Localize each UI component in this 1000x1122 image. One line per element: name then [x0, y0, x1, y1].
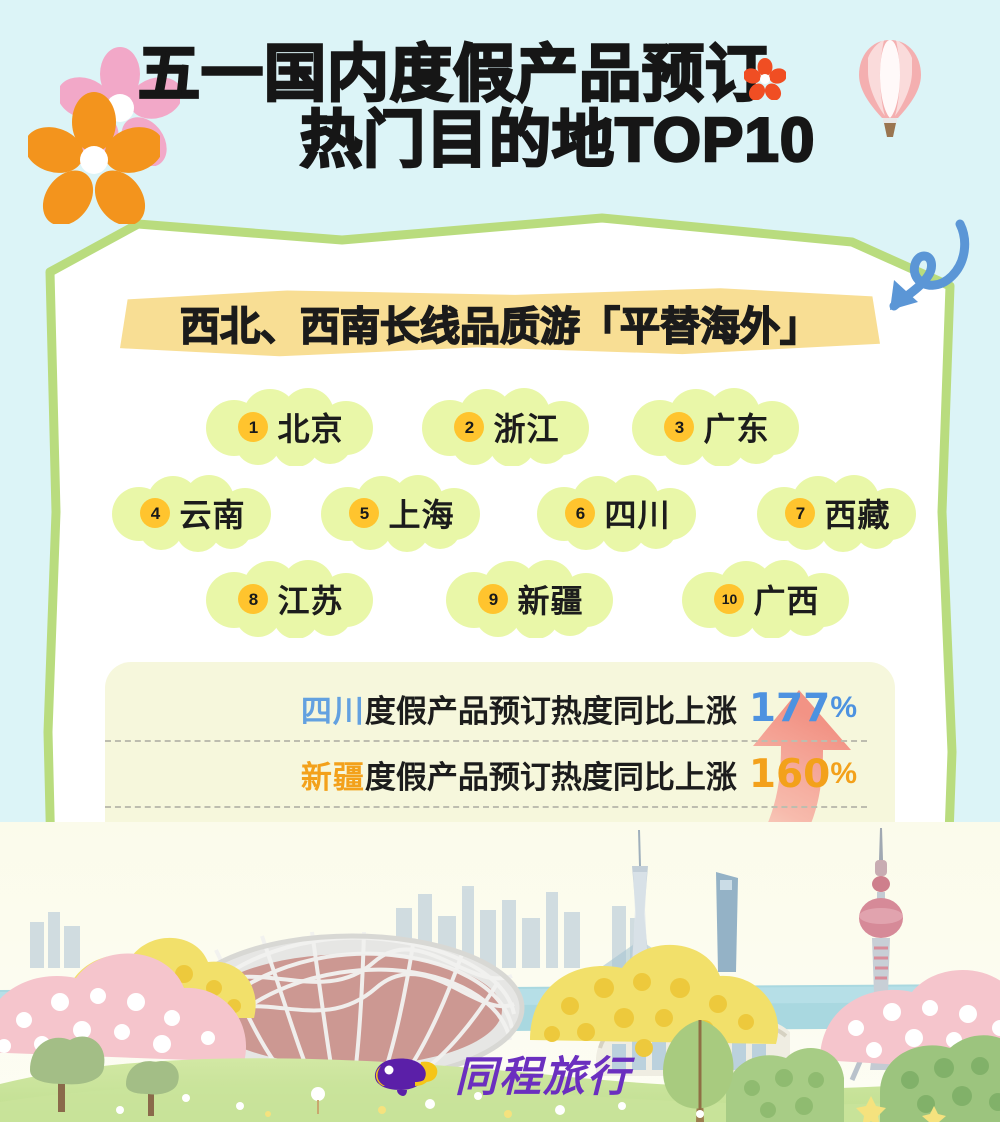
stat-percent: %	[830, 757, 857, 791]
rank-badge: 9	[478, 584, 508, 614]
infographic-root: 五一国内度假产品预订 热门目的地TOP10 西北、西南长线品质游「平替海外」	[0, 0, 1000, 1122]
stat-description: 度假产品预订热度同比上涨	[365, 752, 737, 797]
rank-item-3[interactable]: 3 广东	[622, 388, 812, 466]
rank-item-10[interactable]: 10 广西	[672, 560, 862, 638]
stat-description: 度假产品预订热度同比上涨	[365, 686, 737, 731]
rank-name: 广西	[753, 576, 819, 622]
title-line-2: 热门目的地TOP10	[0, 108, 1000, 174]
rank-item-9[interactable]: 9 新疆	[436, 560, 626, 638]
footer-brand: 同程旅行	[0, 1043, 1000, 1104]
stat-row: 四川 度假产品预订热度同比上涨 177 %	[105, 676, 867, 742]
rank-badge: 10	[714, 584, 744, 614]
shanghai-world-financial-center	[716, 872, 738, 972]
rank-item-5[interactable]: 5 上海	[312, 474, 492, 552]
rank-item-7[interactable]: 7 西藏	[748, 474, 928, 552]
rank-item-8[interactable]: 8 江苏	[196, 560, 386, 638]
tongcheng-bird-logo-icon	[369, 1052, 441, 1096]
rank-name: 北京	[277, 404, 343, 450]
page-title: 五一国内度假产品预订 热门目的地TOP10	[0, 42, 1000, 175]
stat-percent: %	[830, 691, 857, 725]
rank-badge: 8	[238, 584, 268, 614]
rank-name: 江苏	[277, 576, 343, 622]
stat-value: 177	[749, 686, 830, 731]
rank-name: 西藏	[824, 490, 890, 536]
rank-item-1[interactable]: 1 北京	[196, 388, 386, 466]
rank-badge: 5	[349, 498, 379, 528]
stat-row: 新疆 度假产品预订热度同比上涨 160 %	[105, 742, 867, 808]
stat-region: 四川	[301, 686, 365, 731]
title-line-1: 五一国内度假产品预订	[0, 42, 1000, 108]
stat-region: 新疆	[301, 752, 365, 797]
rank-badge: 4	[140, 498, 170, 528]
rank-badge: 6	[565, 498, 595, 528]
rank-name: 四川	[604, 490, 670, 536]
rank-name: 新疆	[517, 576, 583, 622]
stat-value: 160	[749, 752, 830, 797]
rank-item-2[interactable]: 2 浙江	[412, 388, 602, 466]
rank-name: 广东	[703, 404, 769, 450]
small-red-flower-icon	[744, 58, 786, 100]
curly-arrow-icon	[862, 218, 982, 323]
rank-badge: 2	[454, 412, 484, 442]
rank-badge: 1	[238, 412, 268, 442]
rank-item-6[interactable]: 6 四川	[528, 474, 708, 552]
rank-name: 上海	[388, 490, 454, 536]
subtitle-banner: 西北、西南长线品质游「平替海外」	[120, 286, 880, 360]
rank-badge: 7	[785, 498, 815, 528]
rank-item-4[interactable]: 4 云南	[103, 474, 283, 552]
rank-badge: 3	[664, 412, 694, 442]
brand-name: 同程旅行	[455, 1043, 631, 1104]
subtitle-text: 西北、西南长线品质游「平替海外」	[120, 286, 880, 360]
rank-name: 浙江	[493, 404, 559, 450]
rank-name: 云南	[179, 490, 245, 536]
